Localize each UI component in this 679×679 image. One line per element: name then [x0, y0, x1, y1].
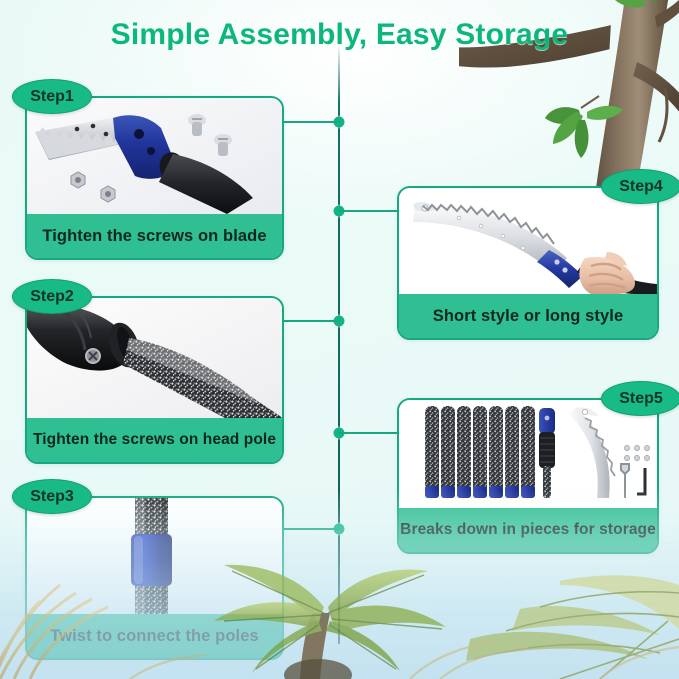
step-4-photo: [399, 188, 657, 294]
connector-line-step3: [280, 528, 340, 530]
step-badge-3: Step3: [12, 479, 92, 514]
step-4-caption: Short style or long style: [399, 294, 657, 338]
connector-spine: [338, 44, 340, 644]
infographic-poster: Simple Assembly, Easy Storage: [0, 0, 679, 679]
connector-line-step1: [280, 121, 340, 123]
step-card-4[interactable]: Short style or long style: [397, 186, 659, 340]
step-card-3[interactable]: Twist to connect the poles: [25, 496, 284, 660]
step-2-caption: Tighten the screws on head pole: [27, 418, 282, 462]
connector-line-step2: [280, 320, 340, 322]
step-card-5[interactable]: Breaks down in pieces for storage: [397, 398, 659, 554]
step-3-photo: [27, 498, 282, 614]
step-2-photo: [27, 298, 282, 418]
step-card-2[interactable]: Tighten the screws on head pole: [25, 296, 284, 464]
step-5-caption: Breaks down in pieces for storage: [399, 508, 657, 552]
step-badge-2: Step2: [12, 279, 92, 314]
step-badge-4: Step4: [601, 169, 679, 204]
step-1-photo: [27, 98, 282, 214]
step-badge-1: Step1: [12, 79, 92, 114]
step-badge-5: Step5: [601, 381, 679, 416]
step-3-caption: Twist to connect the poles: [27, 614, 282, 658]
step-5-photo: [399, 400, 657, 508]
connector-line-step5: [339, 432, 398, 434]
step-card-1[interactable]: Tighten the screws on blade: [25, 96, 284, 260]
connector-line-step4: [339, 210, 398, 212]
step-1-caption: Tighten the screws on blade: [27, 214, 282, 258]
